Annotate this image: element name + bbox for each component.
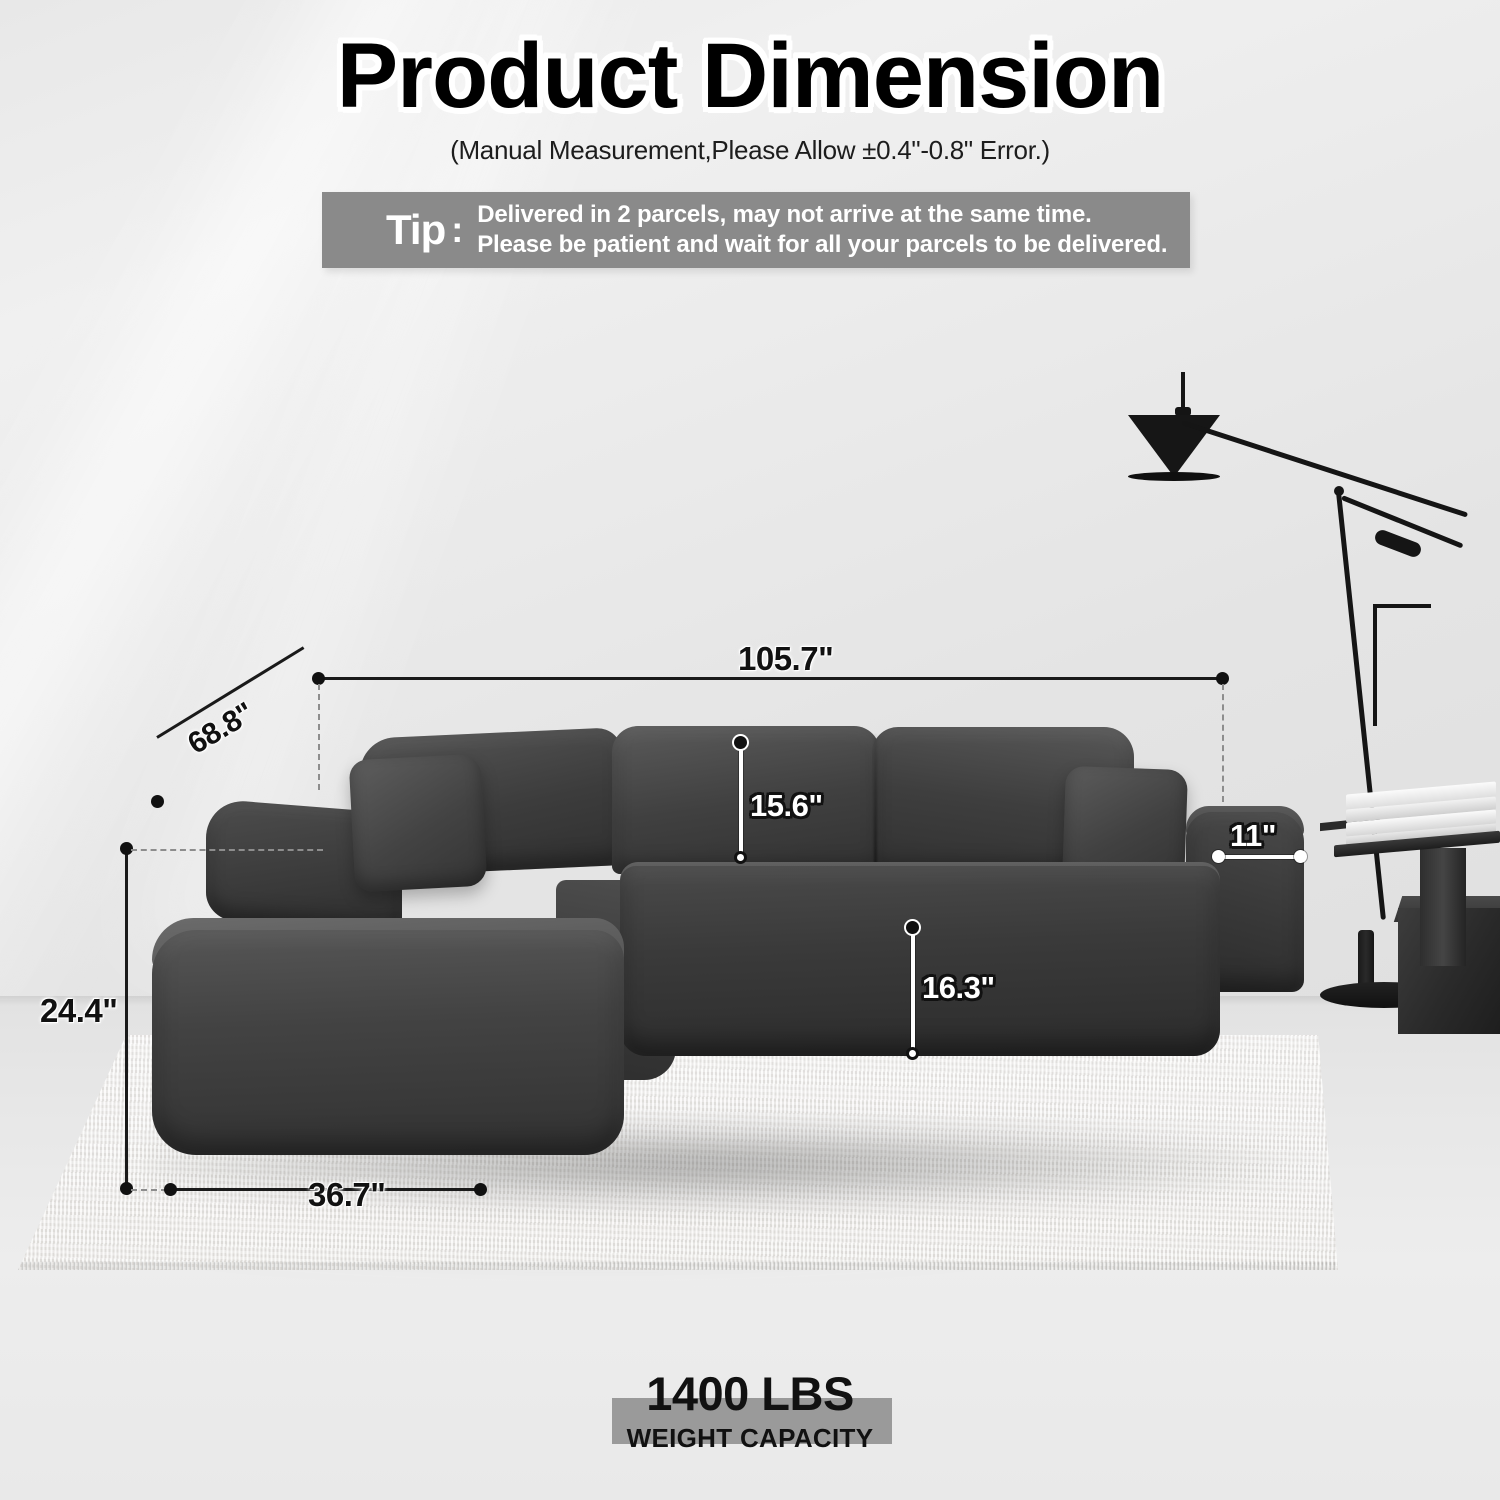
chaise-depth-endpoint-right [474,1183,487,1196]
armrest-endpoint-left [1212,850,1225,863]
backrest-endpoint-top [734,736,747,749]
height-measure-line [125,848,128,1188]
dimension-label-armrest-width: 11" [1230,818,1276,854]
header: Product Dimension (Manual Measurement,Pl… [0,0,1500,166]
tip-line-2: Please be patient and wait for all your … [477,230,1167,260]
chaise-depth-endpoint-left [164,1183,177,1196]
armrest-endpoint-right [1294,850,1307,863]
height-leader-top [131,849,323,851]
measurement-disclaimer: (Manual Measurement,Please Allow ±0.4"-0… [0,135,1500,166]
dimension-label-overall-height: 24.4" [40,992,117,1030]
armrest-measure-line [1218,855,1302,859]
backrest-endpoint-bottom [734,851,747,864]
width-leader-left [318,684,320,790]
weight-capacity-caption: WEIGHT CAPACITY [0,1423,1500,1454]
weight-capacity-badge: 1400 LBS WEIGHT CAPACITY [0,1366,1500,1454]
dimension-label-overall-width: 105.7" [738,640,833,678]
dimension-label-overall-depth: 68.8" [182,696,260,761]
seat-height-measure-line [911,928,915,1054]
tip-label: Tip [386,206,445,254]
seat-height-endpoint-bottom [906,1047,919,1060]
dimension-label-backrest-height: 15.6" [750,788,823,824]
dimension-label-seat-height: 16.3" [922,970,995,1006]
tip-colon: : [451,209,463,251]
weight-capacity-value: 1400 LBS [0,1366,1500,1421]
depth-endpoint-bottom [151,795,164,808]
tip-banner: Tip : Delivered in 2 parcels, may not ar… [322,192,1190,268]
page-title: Product Dimension [0,24,1500,129]
backrest-measure-line [739,744,743,859]
width-leader-right [1222,684,1224,802]
tip-line-1: Delivered in 2 parcels, may not arrive a… [477,200,1167,230]
dimension-label-chaise-depth: 36.7" [308,1176,385,1214]
seat-height-endpoint-top [906,921,919,934]
